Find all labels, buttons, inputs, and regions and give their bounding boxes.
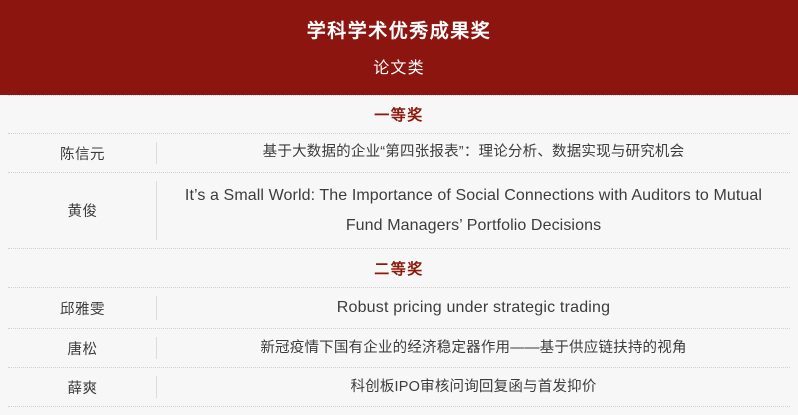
entry-title: 科创板IPO审核问询回复函与首发抑价 bbox=[157, 368, 790, 406]
section-label-first-prize: 一等奖 bbox=[374, 104, 424, 125]
section-label-second-prize: 二等奖 bbox=[374, 258, 424, 279]
table-row: 陈信元 基于大数据的企业“第四张报表”：理论分析、数据实现与研究机会 bbox=[8, 134, 790, 173]
entry-author: 唐松 bbox=[8, 329, 157, 367]
entry-author: 陈信元 bbox=[8, 134, 157, 172]
award-table: 一等奖 陈信元 基于大数据的企业“第四张报表”：理论分析、数据实现与研究机会 黄… bbox=[0, 95, 798, 415]
entry-author: 邱雅雯 bbox=[8, 288, 157, 328]
table-row: 黄俊 It’s a Small World: The Importance of… bbox=[8, 173, 790, 249]
entry-title: It’s a Small World: The Importance of So… bbox=[157, 173, 790, 248]
entry-title: 新冠疫情下国有企业的经济稳定器作用——基于供应链扶持的视角 bbox=[157, 329, 790, 367]
table-row: 薛爽 科创板IPO审核问询回复函与首发抑价 bbox=[8, 368, 790, 407]
table-row: 唐松 新冠疫情下国有企业的经济稳定器作用——基于供应链扶持的视角 bbox=[8, 329, 790, 368]
entry-author: 薛爽 bbox=[8, 368, 157, 406]
entry-author: 黄俊 bbox=[8, 173, 157, 248]
section-header-row: 一等奖 bbox=[8, 95, 790, 134]
entry-title: Robust pricing under strategic trading bbox=[157, 288, 790, 328]
page-subtitle: 论文类 bbox=[373, 58, 425, 80]
page-title: 学科学术优秀成果奖 bbox=[307, 19, 492, 46]
section-header-row: 二等奖 bbox=[8, 249, 790, 288]
award-list-sheet: 学科学术优秀成果奖 论文类 一等奖 陈信元 基于大数据的企业“第四张报表”：理论… bbox=[0, 0, 798, 415]
banner-header: 学科学术优秀成果奖 论文类 bbox=[0, 0, 798, 95]
entry-title: 基于大数据的企业“第四张报表”：理论分析、数据实现与研究机会 bbox=[157, 134, 790, 172]
table-row: 邱雅雯 Robust pricing under strategic tradi… bbox=[8, 288, 790, 329]
